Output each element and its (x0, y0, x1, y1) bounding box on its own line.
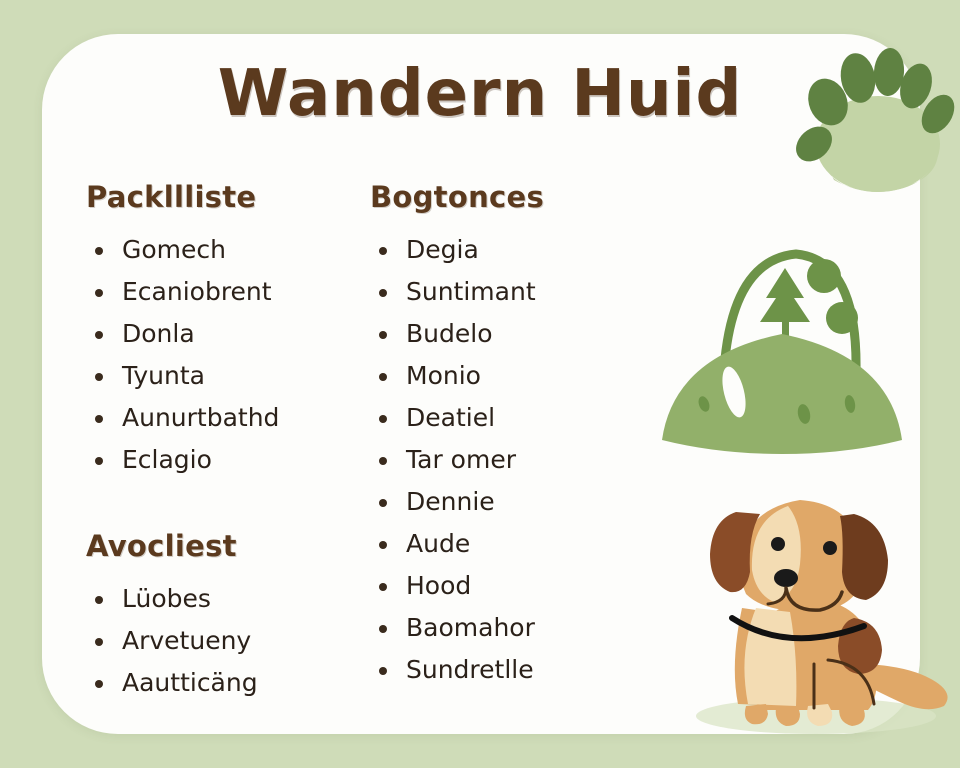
list-item[interactable]: Deatiel (370, 402, 638, 434)
poster-canvas: Wandern Huid (0, 0, 960, 768)
section-heading-avocliest: Avocliest (86, 532, 354, 561)
list-item[interactable]: Donla (86, 318, 354, 350)
page-title: Wandern Huid (0, 62, 960, 126)
list-item[interactable]: Degia (370, 234, 638, 266)
list-item[interactable]: Gomech (86, 234, 354, 266)
list-item[interactable]: Lüobes (86, 583, 354, 615)
list-item[interactable]: Ecaniobrent (86, 276, 354, 308)
right-column: Bogtonces Degia Suntimant Budelo Monio D… (370, 183, 638, 696)
list-item[interactable]: Aunurtbathd (86, 402, 354, 434)
list-item[interactable]: Sundretlle (370, 654, 638, 686)
section-heading-bogtonces: Bogtonces (370, 183, 638, 212)
section-heading-packliste: Packllliste (86, 183, 354, 212)
list-item[interactable]: Baomahor (370, 612, 638, 644)
packliste-list: Gomech Ecaniobrent Donla Tyunta Aunurtba… (86, 234, 354, 476)
list-item[interactable]: Arvetueny (86, 625, 354, 657)
left-column: Packllliste Gomech Ecaniobrent Donla Tyu… (86, 183, 354, 709)
avocliest-list: Lüobes Arvetueny Aautticäng (86, 583, 354, 699)
list-item[interactable]: Monio (370, 360, 638, 392)
bogtonces-list: Degia Suntimant Budelo Monio Deatiel Tar… (370, 234, 638, 686)
list-item[interactable]: Tyunta (86, 360, 354, 392)
list-item[interactable]: Suntimant (370, 276, 638, 308)
list-item[interactable]: Hood (370, 570, 638, 602)
list-item[interactable]: Aude (370, 528, 638, 560)
list-item[interactable]: Eclagio (86, 444, 354, 476)
list-item[interactable]: Tar omer (370, 444, 638, 476)
list-item[interactable]: Budelo (370, 318, 638, 350)
list-item[interactable]: Aautticäng (86, 667, 354, 699)
list-item[interactable]: Dennie (370, 486, 638, 518)
